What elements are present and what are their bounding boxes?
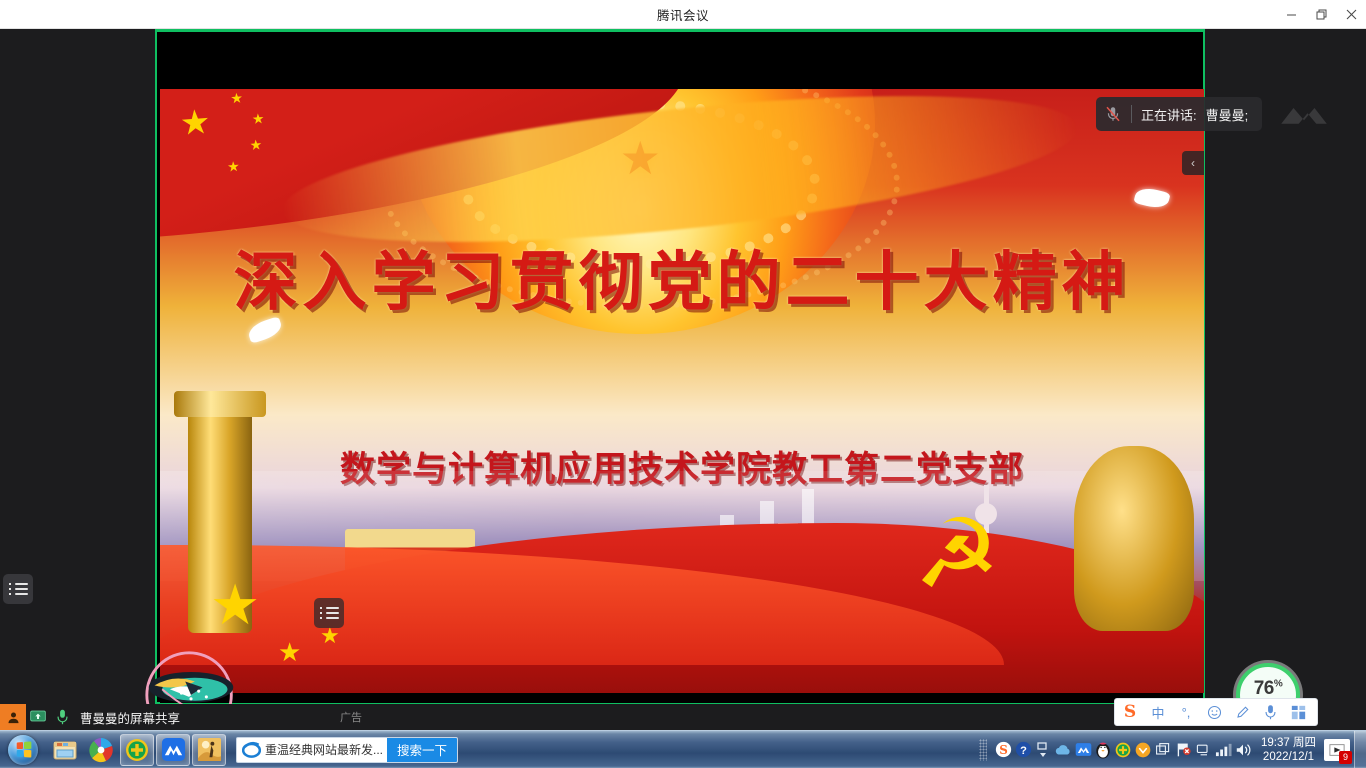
flag-star-small-4-icon: ★ [227, 159, 241, 174]
ie-search-input[interactable]: 重温经典网站最新发... [265, 741, 387, 758]
notification-button[interactable]: 9 [1324, 739, 1350, 761]
speaking-indicator: 正在讲话: 曹曼曼; [1096, 97, 1262, 131]
list-icon [320, 604, 339, 622]
maximize-restore-button[interactable] [1306, 0, 1336, 29]
letterbox-bottom [160, 693, 1200, 703]
svg-text:?: ? [1020, 745, 1027, 757]
sogou-ime-bar: S 中 °, [1114, 698, 1318, 726]
windows-start-orb-icon [8, 735, 38, 765]
clock-time: 19:37 周四 [1261, 736, 1316, 750]
window-controls [1276, 0, 1366, 29]
taskbar-item-file-explorer[interactable] [48, 734, 82, 766]
microphone-toggle[interactable] [50, 709, 74, 725]
shared-screen-frame: 腾讯会议 🔊 ★ ★ ★ ★ ★ ★ [155, 29, 1205, 704]
tray-volume-icon[interactable] [1233, 742, 1253, 758]
green-plus-shield-icon [125, 738, 149, 762]
tray-qq-icon[interactable] [1093, 741, 1113, 759]
tray-security-icon[interactable] [1113, 742, 1133, 758]
ground-star-1-icon: ★ [210, 577, 260, 633]
tray-orange-circle-icon[interactable] [1133, 742, 1153, 758]
taskbar-item-photo-viewer[interactable] [192, 734, 226, 766]
minimize-icon [1286, 9, 1297, 20]
browser-360-icon [88, 737, 114, 763]
ground-star-2-icon: ★ [278, 639, 301, 665]
taskbar-clock[interactable]: 19:37 周四 2022/12/1 [1253, 736, 1324, 764]
list-icon [9, 580, 28, 598]
close-icon [1346, 9, 1357, 20]
mic-muted-icon [1104, 105, 1122, 123]
notification-badge: 9 [1339, 751, 1352, 764]
meeting-stage: 腾讯会议 🔊 ★ ★ ★ ★ ★ ★ [0, 29, 1366, 704]
tray-tencent-meeting-icon[interactable] [1073, 741, 1093, 758]
ime-punctuation-toggle[interactable]: °, [1173, 700, 1199, 724]
tray-windows-icon[interactable] [1153, 742, 1173, 758]
speaking-name-label: 曹曼曼; [1206, 105, 1249, 124]
microphone-icon [56, 709, 69, 725]
gauge-percent-unit: % [1274, 678, 1282, 689]
person-icon [6, 710, 21, 725]
dove-right-icon [1133, 185, 1170, 211]
flag-star-small-3-icon: ★ [249, 137, 263, 152]
ime-pen-icon[interactable] [1229, 700, 1255, 724]
letterbox-top [160, 32, 1200, 89]
collapse-panel-button[interactable]: ‹ [1182, 151, 1204, 175]
flag-star-small-1-icon: ★ [230, 91, 244, 106]
show-desktop-button[interactable] [1354, 731, 1366, 768]
speaking-prefix-label: 正在讲话: [1141, 105, 1197, 124]
tray-flag-icon[interactable] [1173, 741, 1193, 758]
ad-label: 广告 [340, 709, 362, 725]
tray-cloud-icon[interactable] [1053, 743, 1073, 757]
sogou-logo-icon[interactable]: S [1117, 700, 1143, 724]
start-button[interactable] [2, 732, 44, 768]
share-menu-button[interactable] [314, 598, 344, 628]
share-owner-label: 曹曼曼的屏幕共享 [80, 708, 180, 727]
tencent-meeting-watermark-icon [1277, 101, 1331, 129]
taskbar-item-tencent-meeting[interactable] [156, 734, 190, 766]
window-titlebar: 腾讯会议 [0, 0, 1366, 29]
system-tray: S ? [979, 731, 1366, 768]
internet-explorer-icon [237, 740, 265, 759]
svg-text:S: S [999, 743, 1008, 757]
ie-search-widget[interactable]: 重温经典网站最新发... 搜索一下 [236, 737, 458, 763]
tray-help-icon[interactable]: ? [1013, 741, 1033, 758]
ime-voice-icon[interactable] [1257, 700, 1283, 724]
ime-language-mode[interactable]: 中 [1145, 700, 1171, 724]
flag-star-large-icon: ★ [179, 105, 212, 141]
ground-star-3-icon: ★ [320, 625, 340, 647]
tray-network-icon[interactable] [1193, 742, 1213, 758]
huabiao-pillar-top-decoration [174, 391, 266, 417]
windows-taskbar: 重温经典网站最新发... 搜索一下 S ? [0, 730, 1366, 768]
ime-toolbox-icon[interactable] [1285, 700, 1311, 724]
ie-search-button[interactable]: 搜索一下 [387, 737, 457, 763]
tencent-meeting-icon [161, 737, 186, 762]
party-emblem-icon: ☭ [914, 507, 1054, 627]
file-explorer-icon [52, 738, 78, 762]
close-button[interactable] [1336, 0, 1366, 29]
windows-logo-icon [16, 741, 31, 757]
taskbar-items: 重温经典网站最新发... 搜索一下 [48, 734, 458, 766]
taskbar-item-security[interactable] [120, 734, 154, 766]
tray-grip-handle[interactable] [979, 739, 987, 761]
screen-share-icon [30, 710, 46, 724]
window-title: 腾讯会议 [657, 5, 709, 24]
ime-emoji-icon[interactable] [1201, 700, 1227, 724]
share-owner-avatar [0, 704, 26, 730]
clock-date: 2022/12/1 [1261, 750, 1316, 764]
meeting-app-window: 腾讯会议 [0, 0, 1366, 768]
flag-star-small-2-icon: ★ [251, 111, 265, 126]
restore-icon [1316, 9, 1327, 20]
tray-signal-icon[interactable] [1213, 742, 1233, 757]
photo-viewer-icon [197, 737, 222, 762]
slide-headline: 深入学习贯彻党的二十大精神 [160, 231, 1204, 323]
taskbar-item-browser[interactable] [84, 734, 118, 766]
gauge-percent: 76% [1254, 679, 1283, 698]
screen-share-toggle[interactable] [26, 710, 50, 724]
toast-divider [1131, 105, 1132, 123]
chevron-left-icon: ‹ [1191, 156, 1195, 170]
minimize-button[interactable] [1276, 0, 1306, 29]
tray-overflow-button[interactable] [1033, 740, 1053, 760]
stone-lion-decoration [1074, 446, 1194, 631]
meeting-list-button[interactable] [3, 574, 33, 604]
tray-sogou-ime-icon[interactable]: S [993, 741, 1013, 758]
